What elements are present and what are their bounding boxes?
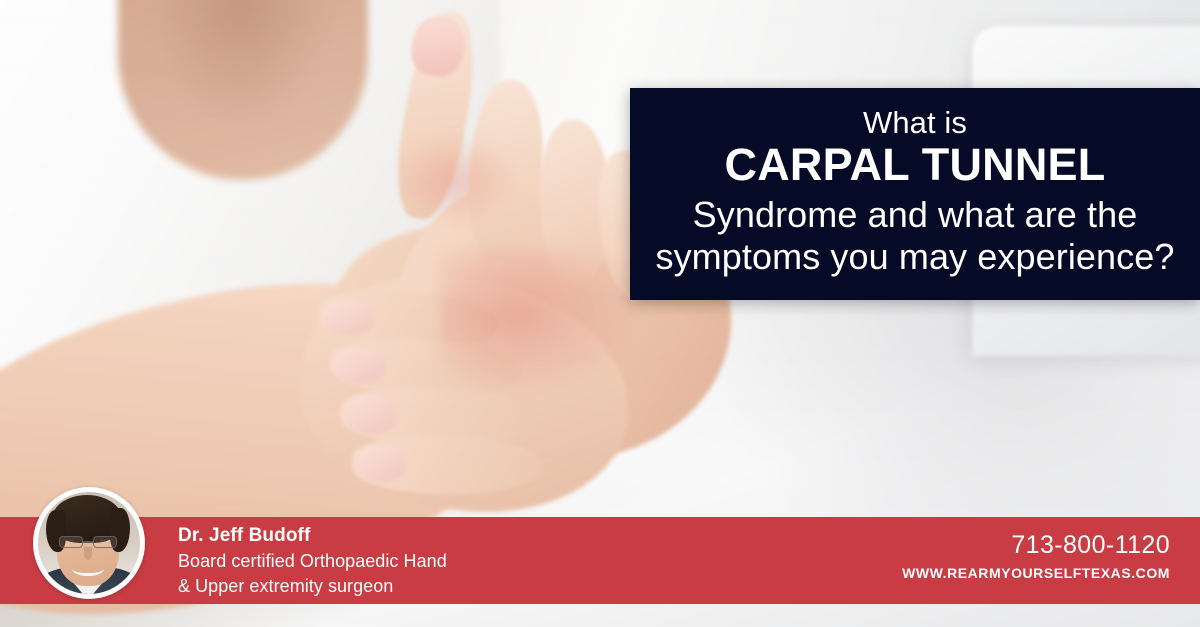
doctor-credential-line-1: Board certified Orthopaedic Hand xyxy=(178,549,447,574)
photo-redness-patch xyxy=(440,250,630,390)
headline-panel: What is CARPAL TUNNEL Syndrome and what … xyxy=(630,88,1200,300)
avatar xyxy=(33,487,145,599)
photo-redness-upper xyxy=(395,135,515,225)
photo-nail-3 xyxy=(345,396,397,434)
glasses-lens-right xyxy=(93,536,117,548)
doctor-name: Dr. Jeff Budoff xyxy=(178,523,447,549)
photo-nail-4 xyxy=(356,446,406,482)
website-url[interactable]: WWW.REARMYOURSELFTEXAS.COM xyxy=(902,565,1170,582)
photo-nail-2 xyxy=(334,348,386,384)
glasses-bridge xyxy=(83,541,93,543)
headline-line-4: symptoms you may experience? xyxy=(655,236,1174,278)
headline-line-3: Syndrome and what are the xyxy=(693,194,1138,236)
contact-info: 713-800-1120 WWW.REARMYOURSELFTEXAS.COM xyxy=(902,531,1170,582)
avatar-nose xyxy=(84,547,92,560)
phone-number[interactable]: 713-800-1120 xyxy=(902,531,1170,559)
glasses-lens-left xyxy=(59,536,83,548)
avatar-portrait xyxy=(38,492,140,594)
doctor-info: Dr. Jeff Budoff Board certified Orthopae… xyxy=(178,523,447,599)
photo-neck-shadow xyxy=(150,0,330,130)
avatar-smile xyxy=(72,562,104,576)
headline-line-2: CARPAL TUNNEL xyxy=(725,140,1106,190)
doctor-credential-line-2: & Upper extremity surgeon xyxy=(178,574,447,599)
carpal-tunnel-banner: What is CARPAL TUNNEL Syndrome and what … xyxy=(0,0,1200,627)
headline-line-1: What is xyxy=(863,106,967,139)
photo-nail-1 xyxy=(322,300,374,336)
